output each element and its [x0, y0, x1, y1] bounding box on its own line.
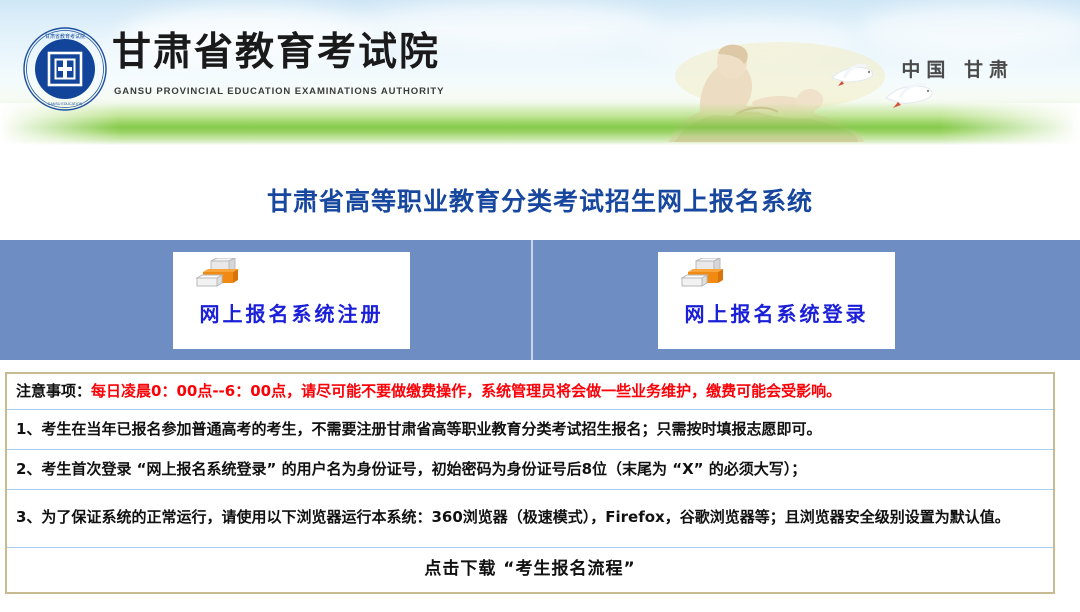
notice-item-2: 2、考生首次登录 “网上报名系统登录” 的用户名为身份证号，初始密码为身份证号后…: [7, 450, 1053, 490]
download-process-link-label: 点击下载 “考生报名流程”: [424, 556, 635, 582]
page-title: 甘肃省高等职业教育分类考试招生网上报名系统: [0, 182, 1080, 218]
notice-item-1: 1、考生在当年已报名参加普通高考的考生，不需要注册甘肃省高等职业教育分类考试招生…: [7, 410, 1053, 450]
organization-name: 甘肃省教育考试院: [112, 33, 440, 72]
grass-decor: [0, 103, 1080, 145]
notice-panel: 注意事项：每日凌晨0：00点--6：00点，请尽可能不要做缴费操作，系统管理员将…: [5, 372, 1055, 594]
notice-warning-text: 每日凌晨0：00点--6：00点，请尽可能不要做缴费操作，系统管理员将会做一些业…: [91, 380, 841, 403]
notice-item-3: 3、为了保证系统的正常运行，请使用以下浏览器运行本系统：360浏览器（极速模式）…: [7, 490, 1053, 548]
svg-text:GANSU EDUCATION: GANSU EDUCATION: [48, 102, 83, 106]
download-process-link[interactable]: 点击下载 “考生报名流程”: [7, 548, 1053, 592]
dove-icon: [828, 60, 876, 90]
action-bar-divider: [531, 240, 533, 360]
login-bar-half: 网上报名系统登录: [540, 240, 1080, 360]
login-button-label: 网上报名系统登录: [685, 298, 869, 327]
action-bar: 网上报名系统注册 网上报名系统登录: [0, 240, 1080, 360]
notice-warning-label: 注意事项：: [16, 380, 91, 403]
gansu-education-seal-icon: 甘肃省教育考试院 GANSU EDUCATION: [22, 26, 108, 112]
notice-warning-row: 注意事项：每日凌晨0：00点--6：00点，请尽可能不要做缴费操作，系统管理员将…: [7, 374, 1053, 410]
register-bar-half: 网上报名系统注册: [0, 240, 540, 360]
registration-tray-icon: [195, 258, 241, 292]
notice-item-3-text: 3、为了保证系统的正常运行，请使用以下浏览器运行本系统：360浏览器（极速模式）…: [16, 506, 1010, 529]
register-button[interactable]: 网上报名系统注册: [173, 252, 410, 349]
register-button-label: 网上报名系统注册: [200, 298, 384, 327]
cloud-decor: [860, 4, 1080, 58]
login-tray-icon: [680, 258, 726, 292]
svg-text:甘肃省教育考试院: 甘肃省教育考试院: [45, 33, 85, 40]
site-banner: 甘肃省教育考试院 GANSU EDUCATION 甘肃省教育考试院 GANSU …: [0, 0, 1080, 145]
login-button[interactable]: 网上报名系统登录: [658, 252, 895, 349]
organization-name-english: GANSU PROVINCIAL EDUCATION EXAMINATIONS …: [114, 86, 444, 97]
notice-item-2-text: 2、考生首次登录 “网上报名系统登录” 的用户名为身份证号，初始密码为身份证号后…: [16, 458, 806, 481]
grass-fade-right: [940, 103, 1080, 145]
banner-region-label: 中国 甘肃: [901, 55, 1014, 82]
notice-item-1-text: 1、考生在当年已报名参加普通高考的考生，不需要注册甘肃省高等职业教育分类考试招生…: [16, 418, 821, 441]
